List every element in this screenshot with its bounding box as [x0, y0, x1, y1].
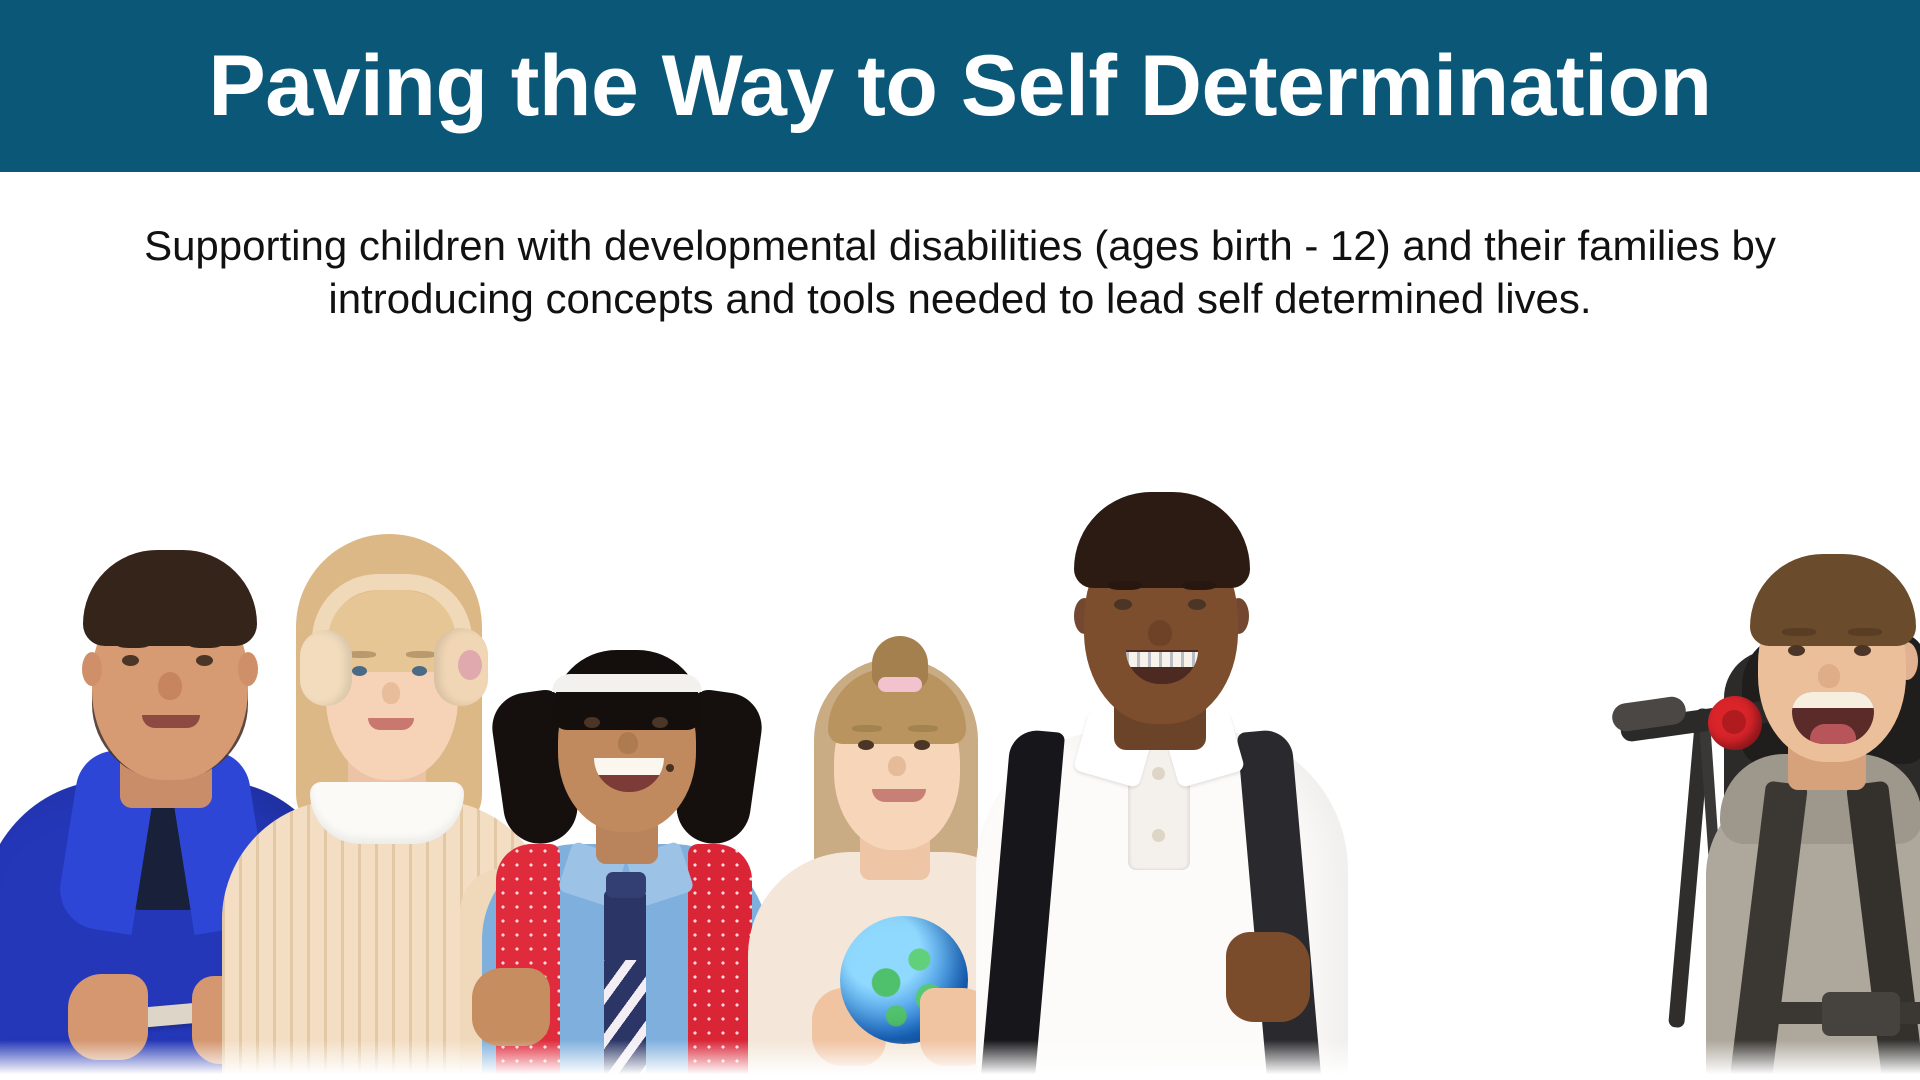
page-title: Paving the Way to Self Determination	[208, 43, 1711, 129]
header-banner: Paving the Way to Self Determination	[0, 0, 1920, 172]
p5-button-top	[1152, 767, 1165, 780]
p6-brow-right	[1848, 628, 1882, 636]
p6-eye-left	[1788, 645, 1805, 656]
subtitle-section: Supporting children with developmental d…	[0, 172, 1920, 372]
p2-nose	[382, 682, 400, 704]
p1-hand-left	[68, 974, 148, 1060]
p5-braces	[1126, 652, 1198, 667]
p1-eye-right	[196, 655, 213, 666]
p5-button-bottom	[1152, 829, 1165, 842]
p4-eye-left	[858, 740, 874, 750]
p3-eye-right	[652, 717, 668, 728]
p3-nose	[618, 732, 638, 754]
p4-nose	[888, 756, 906, 776]
p6-tongue	[1810, 724, 1856, 744]
p2-mouth	[368, 718, 414, 730]
p3-headband	[552, 674, 702, 692]
p2-brow-right	[406, 651, 436, 658]
p1-brow-left	[116, 639, 150, 648]
p1-ear-left	[82, 652, 102, 686]
p4-mouth	[872, 789, 926, 802]
p2-shirt-collar	[310, 782, 464, 844]
p5-nose	[1148, 620, 1172, 646]
p3-necktie-stripes	[604, 960, 646, 1080]
p3-brow-left	[578, 703, 610, 710]
photo-collage	[0, 372, 1920, 1080]
p6-hair	[1750, 554, 1916, 646]
p3-teeth	[594, 758, 664, 775]
p3-beauty-mark	[666, 764, 674, 772]
p1-mouth	[142, 715, 200, 728]
p6-eye-right	[1854, 645, 1871, 656]
p1-nose	[158, 672, 182, 700]
p3-hand-right	[472, 968, 550, 1046]
p6-brow-left	[1782, 628, 1816, 636]
p5-eye-right	[1188, 599, 1206, 610]
p6-harness-buckle	[1822, 992, 1900, 1036]
person-boy-wheelchair	[1596, 460, 1920, 1080]
p5-brow-left	[1108, 581, 1142, 590]
person-teen-boy-backpack	[960, 380, 1360, 1080]
p3-brow-right	[646, 703, 678, 710]
p1-brow-right	[188, 639, 222, 648]
p2-headphone-cup-left	[300, 630, 352, 706]
p4-eye-right	[914, 740, 930, 750]
p5-hair	[1074, 492, 1250, 588]
p6-teeth	[1792, 692, 1874, 708]
p3-necktie-knot	[606, 872, 646, 898]
p3-eye-left	[584, 717, 600, 728]
subtitle-text: Supporting children with developmental d…	[60, 220, 1860, 326]
p6-wheelchair-brake-hub	[1722, 710, 1746, 734]
p6-open-mouth	[1792, 692, 1874, 744]
p5-hand-right	[1226, 932, 1310, 1022]
p4-hair-tie	[878, 677, 922, 692]
p4-brow-left	[852, 725, 882, 732]
p5-brow-right	[1182, 581, 1216, 590]
p1-eye-left	[122, 655, 139, 666]
p4-brow-right	[908, 725, 938, 732]
p5-eye-left	[1114, 599, 1132, 610]
p2-eye-left	[352, 666, 367, 676]
p2-eye-right	[412, 666, 427, 676]
p6-nose	[1818, 664, 1840, 688]
